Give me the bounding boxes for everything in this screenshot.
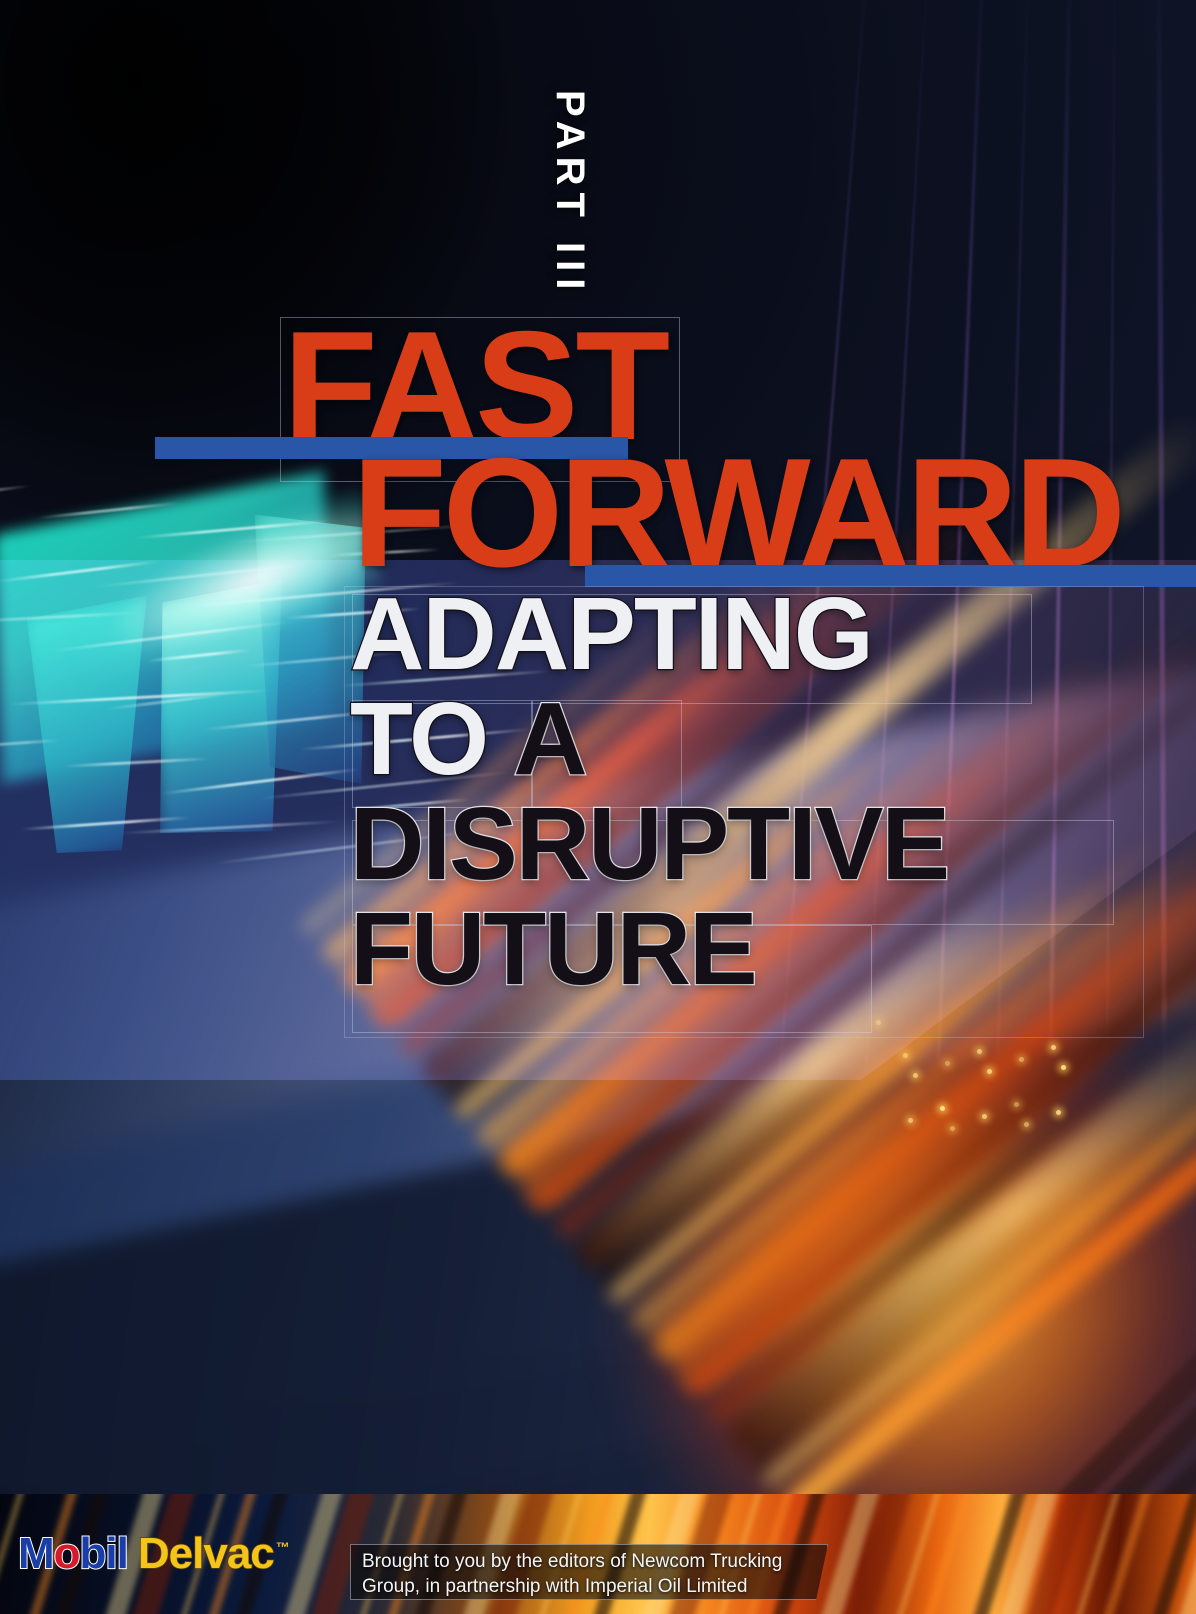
subtitle-line-disruptive: DISRUPTIVE [350,795,948,894]
credit-line-1: Brought to you by the editors of Newcom … [362,1550,822,1575]
subtitle-line-to-a: TOA [350,690,948,789]
subtitle-block: ADAPTING TOA DISRUPTIVE FUTURE [350,585,948,1005]
part-label: PART III [550,90,590,296]
credit-line-2: Group, in partnership with Imperial Oil … [362,1575,822,1600]
logo-text-m: M [18,1529,54,1578]
logo-text-delvac: Delvac [138,1529,274,1578]
logo-text-o: o [54,1529,80,1578]
subtitle-line-adapting: ADAPTING [350,585,948,684]
logo-text-bil: bil [80,1529,128,1578]
subtitle-line-future: FUTURE [350,900,948,999]
trademark-symbol: ™ [276,1539,289,1555]
magazine-cover: PART III FAST FORWARD ADAPTING TOA DISRU… [0,0,1196,1614]
sponsor-banner: MobilDelvac™ Brought to you by the edito… [0,1494,1196,1614]
subtitle-word-a: A [513,681,585,796]
subtitle-word-to: TO [350,681,487,796]
credit-text: Brought to you by the editors of Newcom … [362,1550,822,1599]
cover-text-layer: PART III FAST FORWARD ADAPTING TOA DISRU… [0,0,1196,1614]
mobil-delvac-logo: MobilDelvac™ [18,1532,289,1576]
